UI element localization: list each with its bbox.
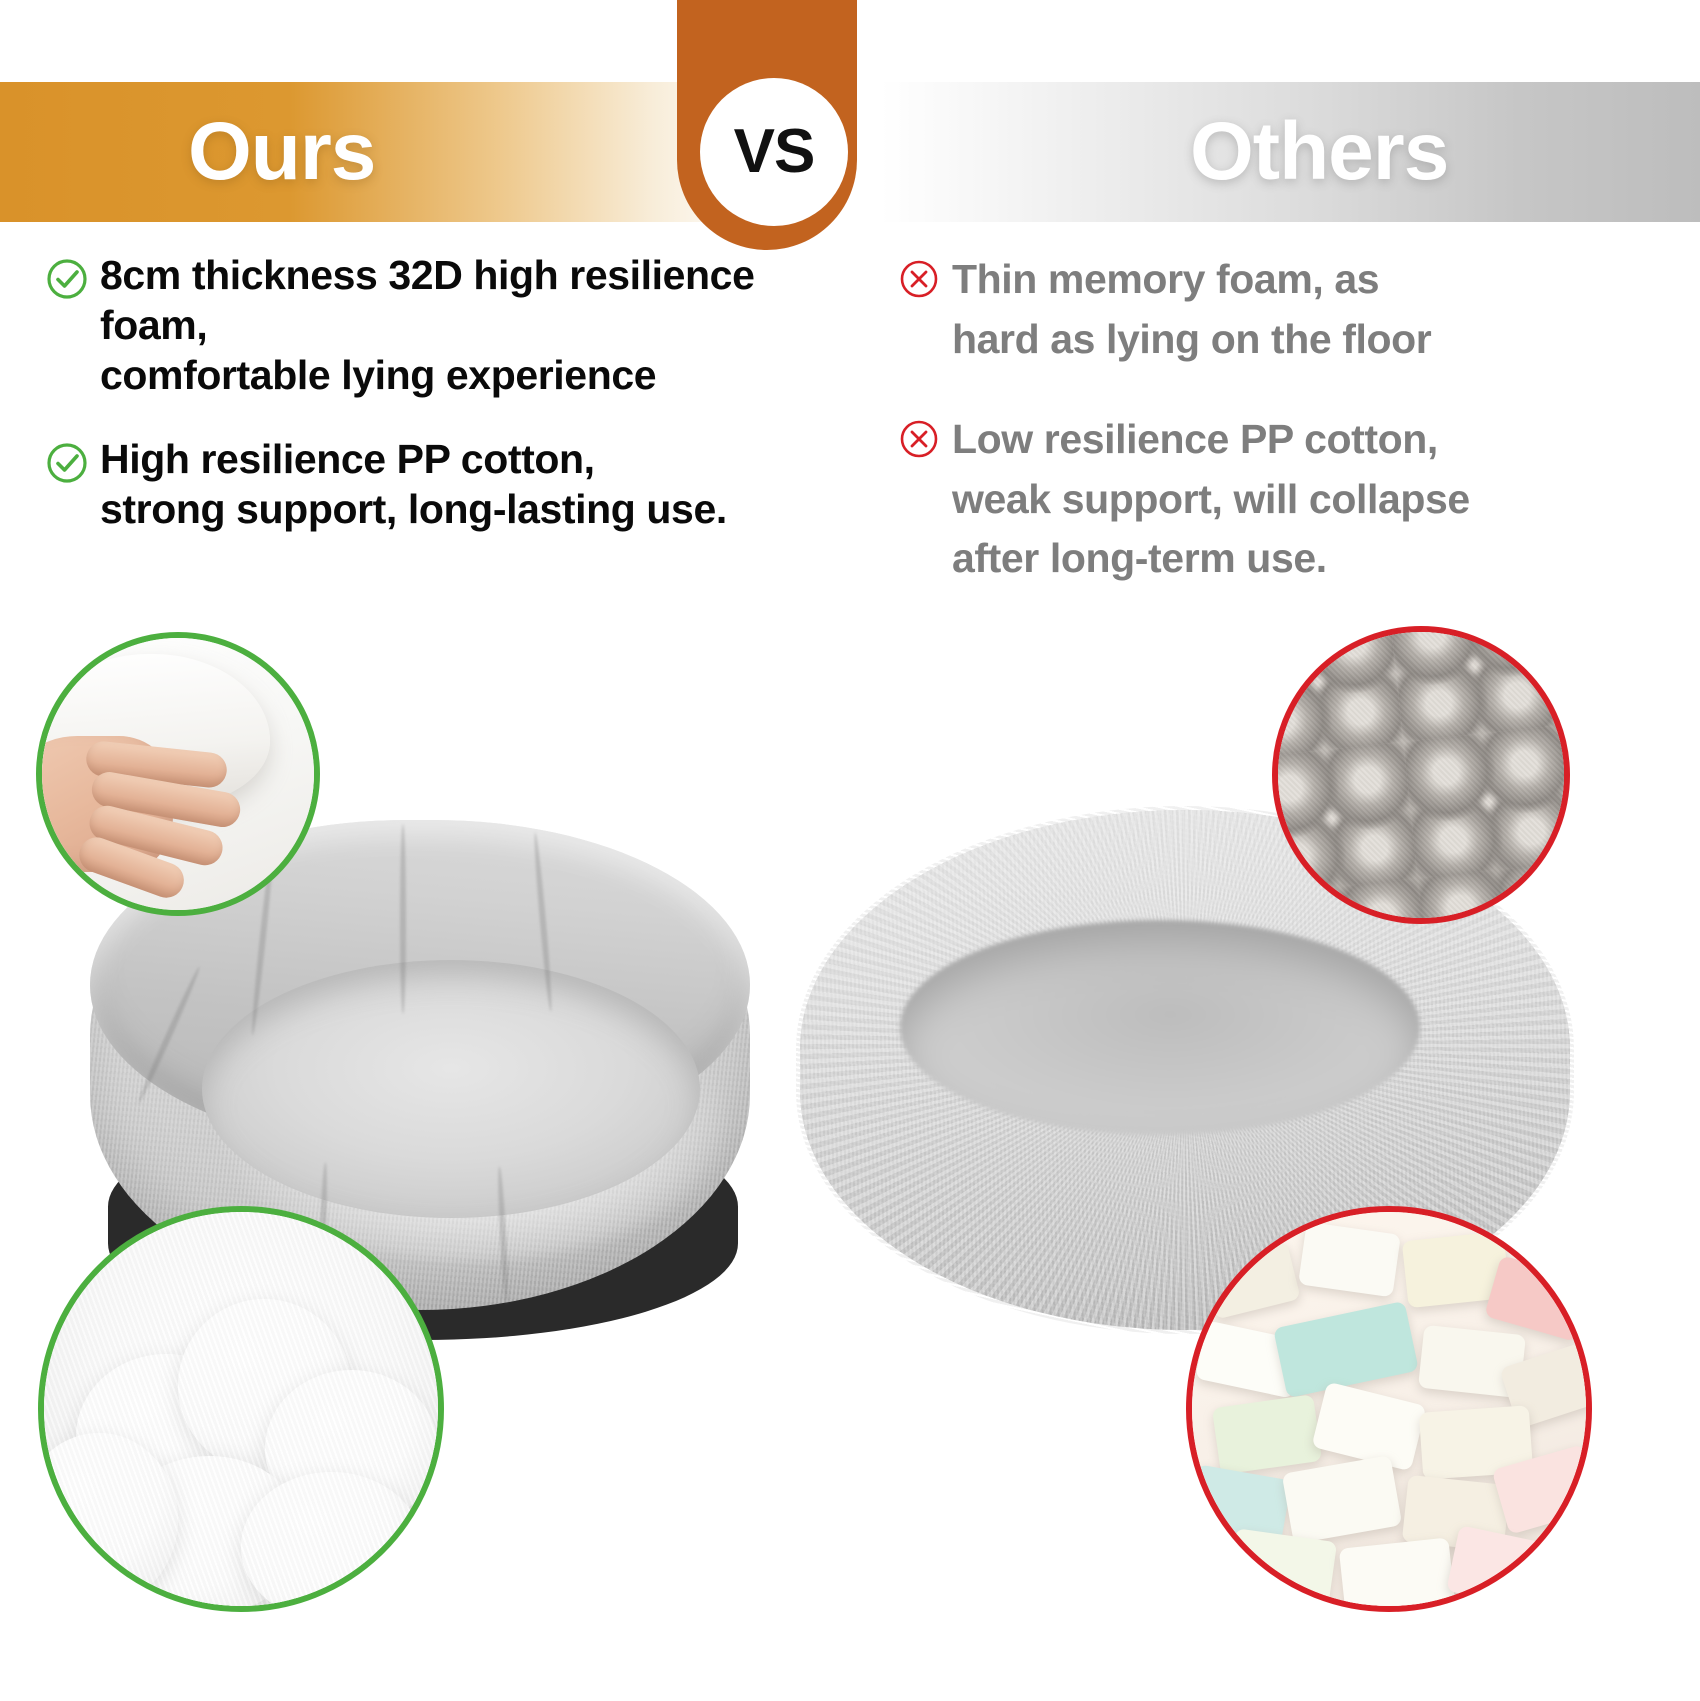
feature-text: Low resilience PP cotton, weak support, … (952, 410, 1470, 590)
feature-item: Thin memory foam, as hard as lying on th… (896, 250, 1686, 370)
comparison-infographic: Ours Others VS 8cm thickness 32D high re… (0, 0, 1700, 1701)
feature-text: 8cm thickness 32D high resilience foam, … (100, 250, 844, 400)
inset-pp-cotton-fiber-fill (38, 1206, 444, 1612)
banner-others-label: Others (1190, 111, 1448, 193)
check-circle-icon (44, 256, 90, 302)
x-circle-icon (896, 256, 942, 302)
banner-ours: Ours (0, 82, 760, 222)
feature-list-ours: 8cm thickness 32D high resilience foam, … (44, 250, 844, 534)
inset-shredded-foam-chunks (1186, 1206, 1592, 1612)
vs-label: VS (734, 121, 815, 183)
feature-list-others: Thin memory foam, as hard as lying on th… (896, 250, 1686, 589)
feature-item: 8cm thickness 32D high resilience foam, … (44, 250, 844, 400)
feature-item: Low resilience PP cotton, weak support, … (896, 410, 1686, 590)
inset-memory-foam-hand-press (36, 632, 320, 916)
feature-item: High resilience PP cotton, strong suppor… (44, 434, 844, 534)
feature-text: High resilience PP cotton, strong suppor… (100, 434, 727, 534)
banner-ours-label: Ours (188, 111, 375, 193)
check-circle-icon (44, 440, 90, 486)
banner-others: Others (880, 82, 1700, 222)
inset-eggcrate-thin-foam (1272, 626, 1570, 924)
vs-badge: VS (700, 78, 848, 226)
x-circle-icon (896, 416, 942, 462)
feature-text: Thin memory foam, as hard as lying on th… (952, 250, 1431, 370)
